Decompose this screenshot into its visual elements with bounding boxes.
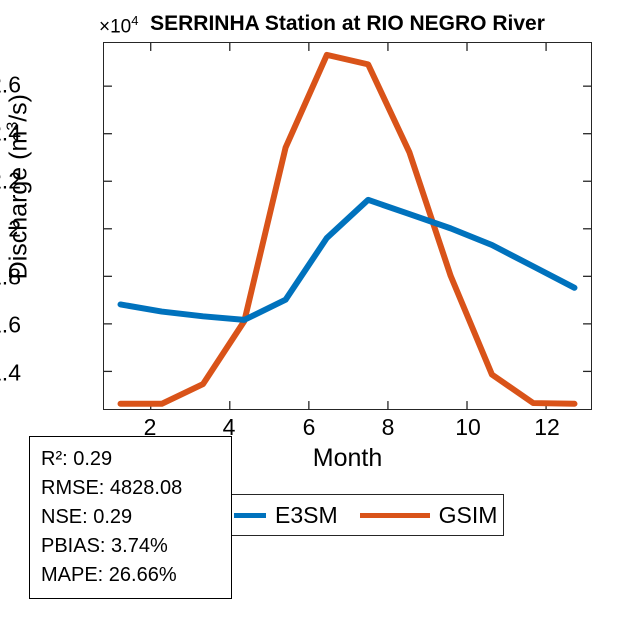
series-line-e3sm [121,200,575,320]
y-tick-label-5: 2.2 [0,168,21,195]
legend-item-gsim[interactable]: GSIM [360,502,498,529]
stat-nse: NSE: 0.29 [41,503,231,532]
x-tick-label-3: 6 [303,414,316,441]
legend-label-e3sm: E3SM [275,502,338,529]
legend-label-gsim: GSIM [439,502,498,529]
plot-area [103,42,592,410]
exponent-power: 4 [131,13,138,28]
x-tick-label-4: 8 [382,414,395,441]
y-tick-label-6: 2.4 [0,120,21,147]
legend-item-e3sm[interactable]: E3SM [234,502,338,529]
chart-title: SERRINHA Station at RIO NEGRO River [103,12,592,36]
y-tick-label-4: 2 [0,216,21,243]
statistics-box: R²: 0.29 RMSE: 4828.08 NSE: 0.29 PBIAS: … [29,436,232,599]
legend-swatch-e3sm [234,513,266,518]
stat-r2: R²: 0.29 [41,445,231,474]
y-tick-label-7: 2.6 [0,72,21,99]
chart-figure: SERRINHA Station at RIO NEGRO River ×104… [0,0,625,625]
stat-mape: MAPE: 26.66% [41,561,231,590]
y-axis-ticks [104,86,591,371]
x-axis-ticks [151,43,546,409]
y-axis-title-main: Discharge (m [5,131,33,280]
y-tick-label-1: 1.4 [0,360,21,387]
series-line-gsim [121,55,575,404]
chart-legend[interactable]: E3SM GSIM [226,494,504,536]
y-tick-label-3: 1.8 [0,264,21,291]
y-axis-exponent-label: ×104 [99,13,138,38]
x-tick-label-6: 12 [534,414,560,441]
plot-canvas [104,43,591,409]
legend-swatch-gsim [360,513,430,518]
x-tick-label-5: 10 [455,414,481,441]
stat-pbias: PBIAS: 3.74% [41,532,231,561]
y-tick-label-2: 1.6 [0,312,21,339]
exponent-base: 10 [110,16,131,37]
exponent-times-symbol: × [99,16,110,37]
stat-rmse: RMSE: 4828.08 [41,474,231,503]
